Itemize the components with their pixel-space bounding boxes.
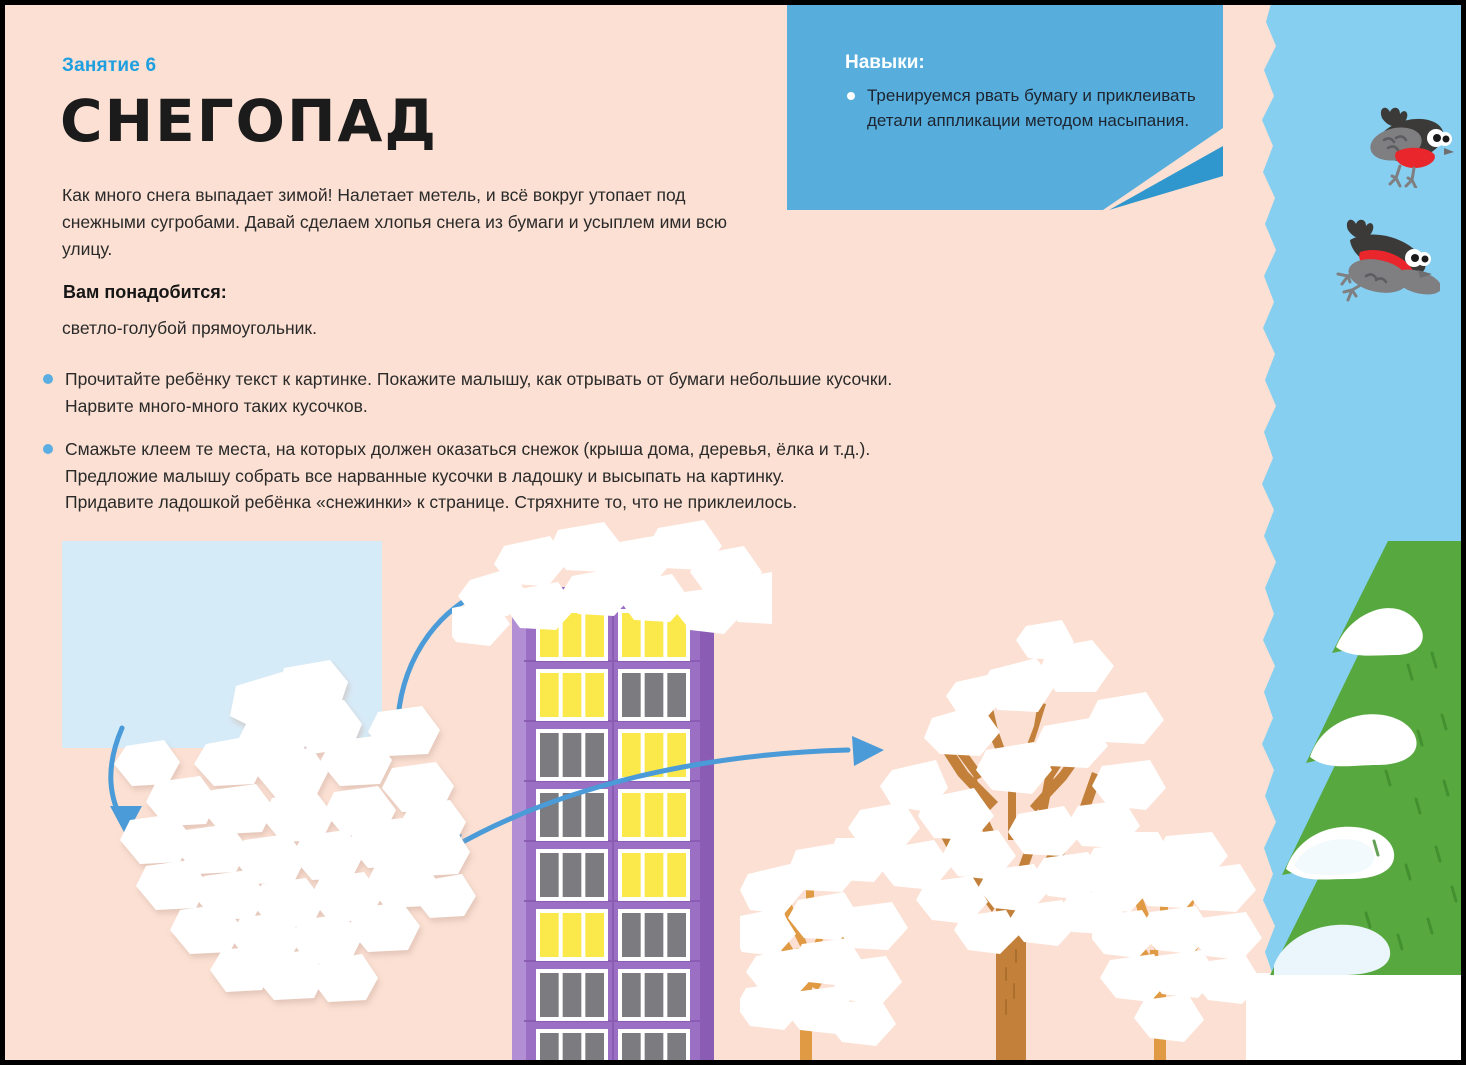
torn-paper-pile [0, 0, 1466, 1065]
worksheet-page: Занятие 6 СНЕГОПАД Как много снега выпад… [0, 0, 1466, 1065]
